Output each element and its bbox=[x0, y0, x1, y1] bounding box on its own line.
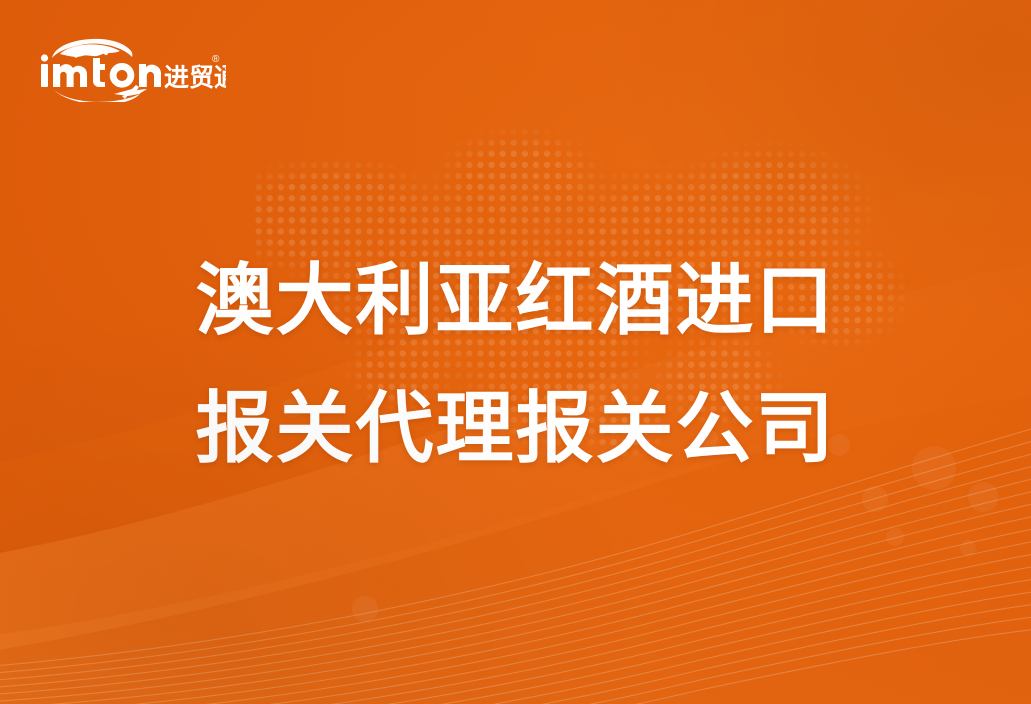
background-vignette bbox=[0, 0, 1031, 704]
promo-banner: 进贸通 ® 澳大利亚红酒进口 报关代理报关公司 bbox=[0, 0, 1031, 704]
